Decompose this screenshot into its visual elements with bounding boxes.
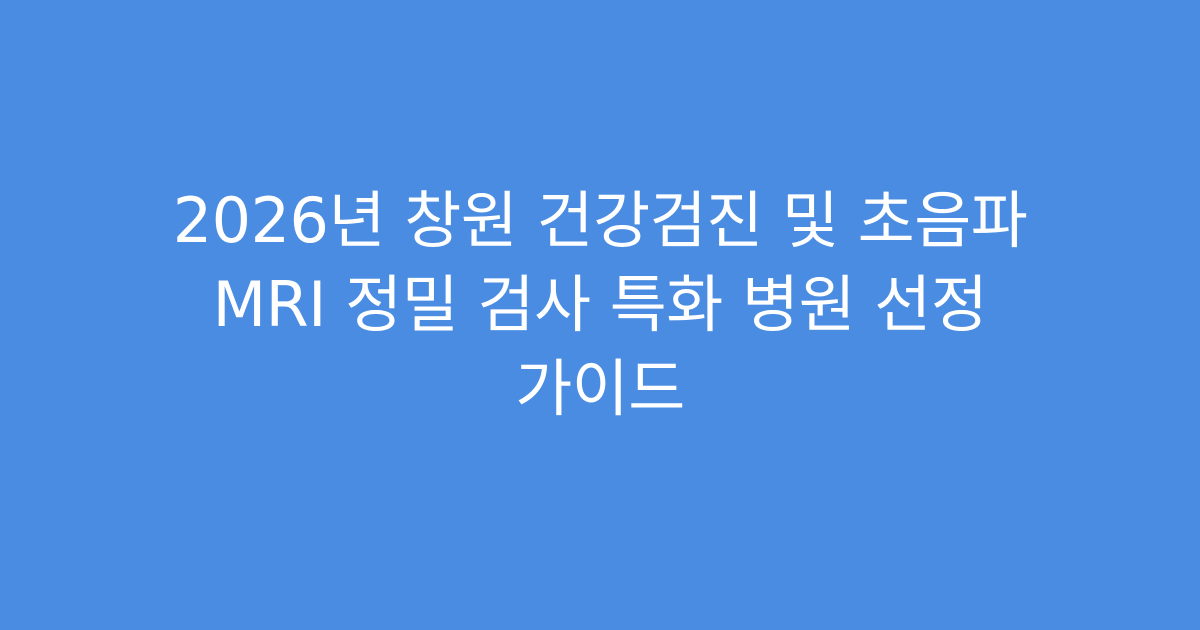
title-line-2: MRI 정밀 검사 특화 병원 선정 [100, 263, 1100, 347]
title-line-1: 2026년 창원 건강검진 및 초음파 [100, 179, 1100, 263]
share-card: 2026년 창원 건강검진 및 초음파 MRI 정밀 검사 특화 병원 선정 가… [0, 0, 1200, 630]
page-title: 2026년 창원 건강검진 및 초음파 MRI 정밀 검사 특화 병원 선정 가… [100, 179, 1100, 431]
title-line-3: 가이드 [100, 347, 1100, 431]
